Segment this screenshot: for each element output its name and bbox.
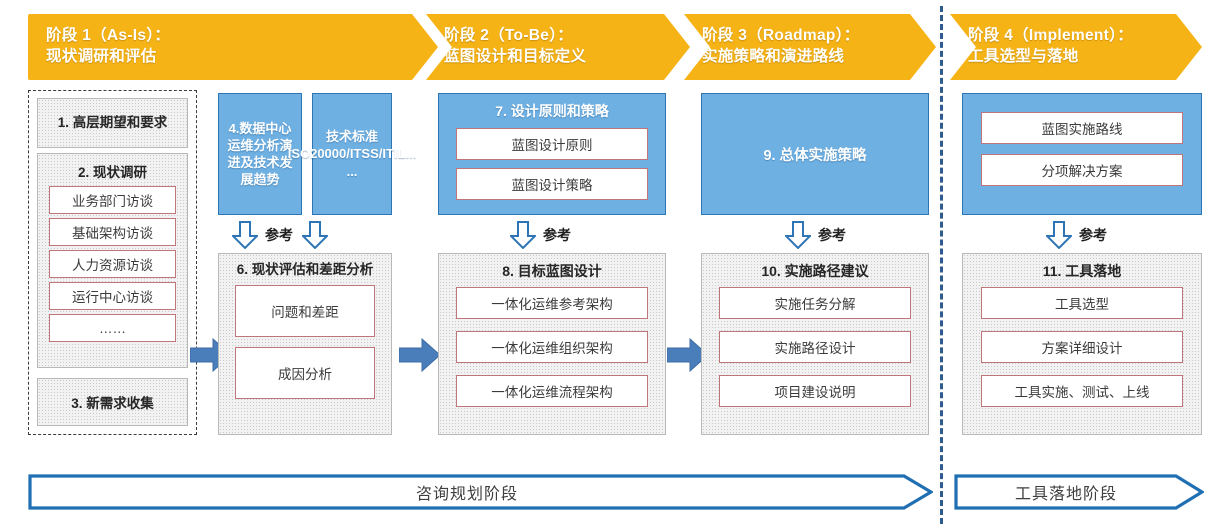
implementation-path-item-list: 实施任务分解 实施路径设计 项目建设说明 (702, 281, 928, 407)
reference-label-2: 参考 (543, 225, 571, 245)
card-target-blueprint[interactable]: 8. 目标蓝图设计 一体化运维参考架构 一体化运维组织架构 一体化运维流程架构 (438, 253, 666, 435)
list-item[interactable]: 成因分析 (235, 347, 375, 399)
phase-banner-4-line2: 工具选型与落地 (968, 47, 1133, 68)
phase-banner-2-text: 阶段 2（To-Be）： 蓝图设计和目标定义 (426, 26, 586, 68)
phase-banner-1-line2: 现状调研和评估 (46, 47, 170, 68)
reference-arrow-group-2: 参考 (510, 221, 571, 249)
card-high-level-expectations-title: 1. 高层期望和要求 (52, 114, 174, 132)
down-arrow-icon (232, 221, 258, 249)
card-new-requirements[interactable]: 3. 新需求收集 (37, 378, 188, 426)
list-item[interactable]: 项目建设说明 (719, 375, 911, 407)
list-item[interactable]: 蓝图设计策略 (456, 168, 648, 200)
list-item[interactable]: 一体化运维组织架构 (456, 331, 648, 363)
phase-divider (940, 6, 943, 524)
blueprint-rollout-item-list: 蓝图实施路线 分项解决方案 (963, 94, 1201, 186)
card-tool-landing-title: 11. 工具落地 (963, 261, 1201, 281)
band-tooling-label: 工具落地阶段 (954, 472, 1178, 512)
list-item[interactable]: 工具选型 (981, 287, 1183, 319)
list-item[interactable]: 问题和差距 (235, 285, 375, 337)
reference-label-3: 参考 (818, 225, 846, 245)
list-item[interactable]: 实施任务分解 (719, 287, 911, 319)
card-target-blueprint-title: 8. 目标蓝图设计 (439, 261, 665, 281)
card-implementation-path-title: 10. 实施路径建议 (702, 261, 928, 281)
card-blueprint-rollout[interactable]: 蓝图实施路线 分项解决方案 (962, 93, 1202, 215)
reference-arrow-group-1: 参考 (232, 221, 328, 249)
card-design-principles-title: 7. 设计原则和策略 (439, 101, 665, 121)
list-item[interactable]: 方案详细设计 (981, 331, 1183, 363)
card-tech-standards[interactable]: 技术标准ISO20000/ITSS/ITIL... ... (312, 93, 392, 215)
phase-banner-1-text: 阶段 1（As-Is）： 现状调研和评估 (28, 26, 170, 68)
phase-banner-3-text: 阶段 3（Roadmap）： 实施策略和演进路线 (684, 26, 860, 68)
card-design-principles[interactable]: 7. 设计原则和策略 蓝图设计原则 蓝图设计策略 (438, 93, 666, 215)
phase-banner-2[interactable]: 阶段 2（To-Be）： 蓝图设计和目标定义 (426, 14, 690, 80)
list-item[interactable]: 实施路径设计 (719, 331, 911, 363)
reference-label-1: 参考 (265, 225, 293, 245)
down-arrow-icon (510, 221, 536, 249)
list-item[interactable]: 蓝图设计原则 (456, 128, 648, 160)
phase-banner-3-line1: 阶段 3（Roadmap）： (702, 26, 860, 47)
list-item[interactable]: 运行中心访谈 (49, 282, 176, 310)
down-arrow-icon (1046, 221, 1072, 249)
target-blueprint-item-list: 一体化运维参考架构 一体化运维组织架构 一体化运维流程架构 (439, 281, 665, 407)
list-item[interactable]: …… (49, 314, 176, 342)
list-item[interactable]: 蓝图实施路线 (981, 112, 1183, 144)
down-arrow-icon (302, 221, 328, 249)
phase1-group: 1. 高层期望和要求 2. 现状调研 业务部门访谈 基础架构访谈 人力资源访谈 … (28, 90, 197, 435)
list-item[interactable]: 基础架构访谈 (49, 218, 176, 246)
card-current-state-survey[interactable]: 2. 现状调研 业务部门访谈 基础架构访谈 人力资源访谈 运行中心访谈 …… (37, 153, 188, 368)
down-arrow-icon (785, 221, 811, 249)
list-item[interactable]: 工具实施、测试、上线 (981, 375, 1183, 407)
card-tool-landing[interactable]: 11. 工具落地 工具选型 方案详细设计 工具实施、测试、上线 (962, 253, 1202, 435)
reference-arrow-group-4: 参考 (1046, 221, 1107, 249)
band-tooling[interactable]: 工具落地阶段 (954, 472, 1204, 512)
card-overall-strategy[interactable]: 9. 总体实施策略 (701, 93, 929, 215)
tool-landing-item-list: 工具选型 方案详细设计 工具实施、测试、上线 (963, 281, 1201, 407)
gap-analysis-item-list: 问题和差距 成因分析 (219, 279, 391, 399)
card-gap-analysis-title: 6. 现状评估和差距分析 (219, 261, 391, 279)
list-item[interactable]: 一体化运维参考架构 (456, 287, 648, 319)
diagram-root: 阶段 1（As-Is）： 现状调研和评估 阶段 2（To-Be）： 蓝图设计和目… (0, 0, 1217, 530)
phase-banner-4[interactable]: 阶段 4（Implement）： 工具选型与落地 (950, 14, 1202, 80)
band-consulting[interactable]: 咨询规划阶段 (28, 472, 933, 512)
list-item[interactable]: 分项解决方案 (981, 154, 1183, 186)
list-item[interactable]: 人力资源访谈 (49, 250, 176, 278)
list-item[interactable]: 业务部门访谈 (49, 186, 176, 214)
phase-banner-3[interactable]: 阶段 3（Roadmap）： 实施策略和演进路线 (684, 14, 936, 80)
design-principles-item-list: 蓝图设计原则 蓝图设计策略 (439, 121, 665, 200)
card-tech-standards-title: 技术标准ISO20000/ITSS/ITIL... ... (284, 128, 421, 179)
reference-label-4: 参考 (1079, 225, 1107, 245)
phase-banner-2-line1: 阶段 2（To-Be）： (444, 26, 586, 47)
survey-item-list: 业务部门访谈 基础架构访谈 人力资源访谈 运行中心访谈 …… (38, 181, 187, 342)
card-high-level-expectations[interactable]: 1. 高层期望和要求 (37, 98, 188, 148)
reference-arrow-group-3: 参考 (785, 221, 846, 249)
card-gap-analysis[interactable]: 6. 现状评估和差距分析 问题和差距 成因分析 (218, 253, 392, 435)
phase-banner-4-text: 阶段 4（Implement）： 工具选型与落地 (950, 26, 1133, 68)
phase-banner-2-line2: 蓝图设计和目标定义 (444, 47, 586, 68)
card-current-state-survey-title: 2. 现状调研 (38, 161, 187, 181)
card-implementation-path[interactable]: 10. 实施路径建议 实施任务分解 实施路径设计 项目建设说明 (701, 253, 929, 435)
phase-banner-3-line2: 实施策略和演进路线 (702, 47, 860, 68)
phase-banner-4-line1: 阶段 4（Implement）： (968, 26, 1133, 47)
flow-arrow-2 (399, 338, 441, 377)
card-new-requirements-title: 3. 新需求收集 (71, 392, 154, 412)
list-item[interactable]: 一体化运维流程架构 (456, 375, 648, 407)
card-overall-strategy-title: 9. 总体实施策略 (763, 144, 866, 165)
right-arrow-icon (399, 338, 441, 372)
band-consulting-label: 咨询规划阶段 (28, 472, 906, 512)
phase-banner-1-line1: 阶段 1（As-Is）： (46, 26, 170, 47)
phase-banner-1[interactable]: 阶段 1（As-Is）： 现状调研和评估 (28, 14, 438, 80)
